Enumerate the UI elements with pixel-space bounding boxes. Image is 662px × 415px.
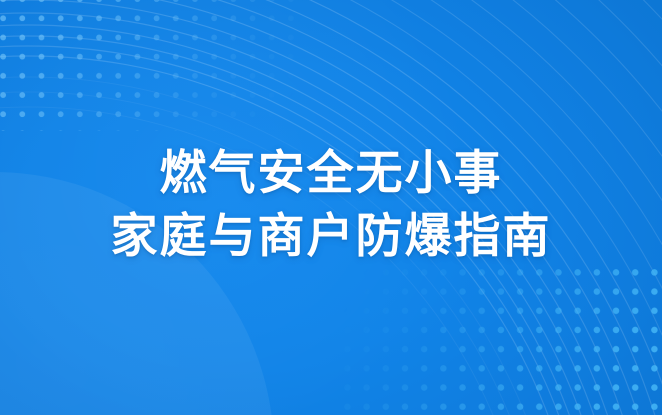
headline-block: 燃气安全无小事 家庭与商户防爆指南: [0, 141, 662, 267]
headline-line-1: 燃气安全无小事: [0, 141, 662, 204]
gas-safety-banner: 燃气安全无小事 家庭与商户防爆指南: [0, 0, 662, 415]
dot-grid-bottom-right: [344, 269, 662, 415]
headline-line-2: 家庭与商户防爆指南: [0, 204, 662, 267]
dot-grid-top-left: [0, 0, 300, 131]
